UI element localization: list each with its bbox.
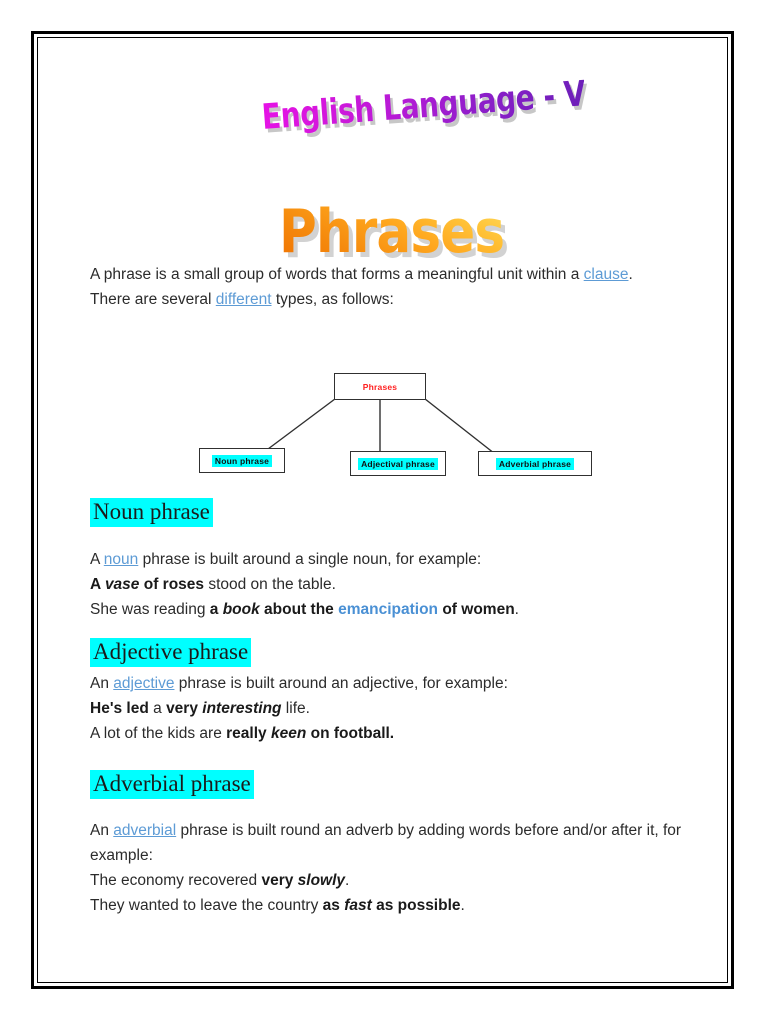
- advb-ex2-plain-1: They wanted to leave the country: [90, 897, 323, 914]
- document-page: English Language - V English Language - …: [0, 0, 768, 1024]
- advb-intro-b: phrase is built round an adverb by addin…: [90, 822, 681, 864]
- noun-intro-b: phrase is built around a single noun, fo…: [138, 551, 481, 568]
- link-adverbial[interactable]: adverbial: [113, 822, 176, 839]
- adj-ex1-bold-2: very: [166, 700, 202, 717]
- advb-ex2-bolditalic-fast: fast: [344, 897, 372, 914]
- advb-ex1-rest: .: [345, 872, 349, 889]
- noun-ex1-rest: stood on the table.: [204, 576, 336, 593]
- adj-ex2-bold-2: on football.: [306, 725, 394, 742]
- advb-intro-a: An: [90, 822, 113, 839]
- noun-intro-a: A: [90, 551, 104, 568]
- noun-ex2-blue-emancipation: emancipation: [338, 601, 438, 618]
- adj-ex1-bolditalic-interesting: interesting: [202, 700, 281, 717]
- noun-ex1-bold-1: A: [90, 576, 105, 593]
- section-noun-phrase-example-1: A vase of roses stood on the table.: [90, 572, 668, 597]
- diagram-node-adjectival-phrase[interactable]: Adjectival phrase: [350, 451, 446, 476]
- link-adjective[interactable]: adjective: [113, 675, 174, 692]
- diagram-node-noun-phrase[interactable]: Noun phrase: [199, 448, 285, 473]
- diagram-node-adverbial-phrase-label: Adverbial phrase: [496, 458, 574, 470]
- wordart-subtitle-phrases: Phrases Phrases: [279, 197, 504, 267]
- advb-ex1-bolditalic-slowly: slowly: [298, 872, 345, 889]
- section-adjective-phrase-example-2: A lot of the kids are really keen on foo…: [90, 721, 668, 746]
- section-heading-adverbial-phrase: Adverbial phrase: [90, 770, 254, 799]
- section-noun-phrase-example-2: She was reading a book about the emancip…: [90, 597, 668, 622]
- page-content: English Language - V English Language - …: [34, 34, 737, 992]
- wordart-subtitle-face: Phrases: [279, 197, 504, 267]
- advb-ex2-bold-1: as: [323, 897, 345, 914]
- intro-paragraph: A phrase is a small group of words that …: [90, 262, 668, 312]
- adj-ex1-rest: life.: [282, 700, 310, 717]
- advb-ex2-bold-2: as possible: [372, 897, 461, 914]
- noun-ex2-bold-2: about the: [260, 601, 338, 618]
- noun-ex2-bolditalic-book: book: [223, 601, 260, 618]
- advb-ex1-bold-1: very: [261, 872, 297, 889]
- diagram-node-adverbial-phrase[interactable]: Adverbial phrase: [478, 451, 592, 476]
- section-adjective-phrase-example-1: He's led a very interesting life.: [90, 696, 668, 721]
- adj-ex2-plain-1: A lot of the kids are: [90, 725, 226, 742]
- diagram-node-noun-phrase-label: Noun phrase: [212, 455, 272, 467]
- adj-ex2-bolditalic-keen: keen: [271, 725, 306, 742]
- link-different[interactable]: different: [216, 291, 272, 308]
- noun-ex2-rest: .: [515, 601, 519, 618]
- noun-ex2-plain-1: She was reading: [90, 601, 210, 618]
- page-border: English Language - V English Language - …: [31, 31, 734, 989]
- section-adverbial-phrase-example-1: The economy recovered very slowly.: [90, 868, 668, 893]
- advb-ex1-plain-1: The economy recovered: [90, 872, 261, 889]
- adj-ex1-bold-1: He's led: [90, 700, 149, 717]
- noun-ex1-bold-2: of roses: [139, 576, 204, 593]
- noun-ex1-bolditalic-vase: vase: [105, 576, 139, 593]
- adj-ex1-plain-1: a: [149, 700, 166, 717]
- section-adjective-phrase-intro: An adjective phrase is built around an a…: [90, 671, 668, 696]
- section-adverbial-phrase-example-2: They wanted to leave the country as fast…: [90, 893, 668, 918]
- link-noun[interactable]: noun: [104, 551, 138, 568]
- intro-text-part3: types, as follows:: [272, 291, 394, 308]
- intro-text-part1: A phrase is a small group of words that …: [90, 266, 584, 283]
- section-heading-adjective-phrase: Adjective phrase: [90, 638, 251, 667]
- noun-ex2-bold-3: of women: [438, 601, 515, 618]
- section-noun-phrase-intro: A noun phrase is built around a single n…: [90, 547, 668, 572]
- wordart-title-english-language: English Language - V English Language - …: [261, 74, 587, 138]
- section-heading-noun-phrase: Noun phrase: [90, 498, 213, 527]
- section-adverbial-phrase-intro: An adverbial phrase is built round an ad…: [90, 818, 682, 868]
- noun-ex2-bold-1: a: [210, 601, 223, 618]
- advb-ex2-rest: .: [461, 897, 465, 914]
- adj-intro-b: phrase is built around an adjective, for…: [174, 675, 507, 692]
- link-clause[interactable]: clause: [584, 266, 629, 283]
- diagram-node-phrases-label: Phrases: [363, 382, 397, 392]
- diagram-node-adjectival-phrase-label: Adjectival phrase: [358, 458, 438, 470]
- phrase-types-diagram: Phrases Noun phrase Adjectival phrase Ad…: [134, 344, 634, 484]
- diagram-node-phrases[interactable]: Phrases: [334, 373, 426, 400]
- adj-intro-a: An: [90, 675, 113, 692]
- adj-ex2-bold-1: really: [226, 725, 271, 742]
